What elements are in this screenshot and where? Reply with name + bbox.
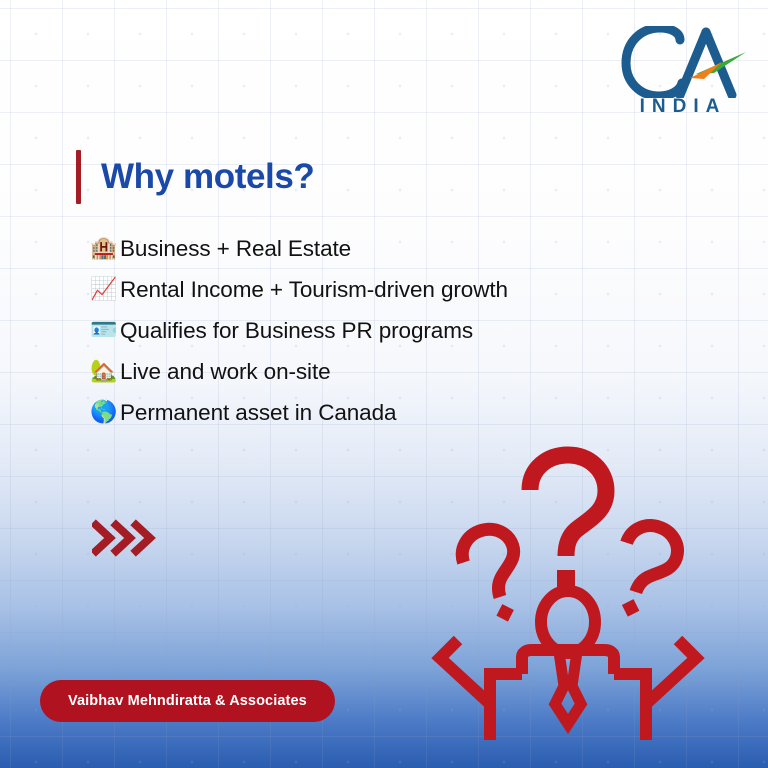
- firm-name-badge: Vaibhav Mehndiratta & Associates: [40, 680, 335, 722]
- list-item-label: Permanent asset in Canada: [120, 400, 396, 426]
- logo-wordmark: INDIA: [610, 96, 750, 118]
- list-item: 🌎 Permanent asset in Canada: [90, 392, 690, 433]
- page-title: Why motels?: [101, 150, 314, 204]
- house-with-garden-emoji: 🏡: [90, 361, 120, 383]
- heading-block: Why motels?: [76, 150, 314, 204]
- question-mark-left-icon: [456, 523, 535, 629]
- benefit-list: 🏨 Business + Real Estate 📈 Rental Income…: [90, 228, 690, 433]
- question-mark-center-icon: [530, 455, 606, 589]
- triple-chevron-right-icon: [92, 517, 160, 559]
- chart-increasing-emoji: 📈: [90, 279, 120, 301]
- list-item-label: Live and work on-site: [120, 359, 331, 385]
- person-head-icon: [541, 591, 595, 653]
- poster-canvas: INDIA Why motels? 🏨 Business + Real Esta…: [0, 0, 768, 768]
- globe-americas-emoji: 🌎: [90, 402, 120, 424]
- person-necktie-icon: [555, 652, 581, 724]
- hotel-emoji: 🏨: [90, 238, 120, 260]
- ca-monogram-icon: [618, 26, 748, 98]
- list-item: 📈 Rental Income + Tourism-driven growth: [90, 269, 690, 310]
- identification-card-emoji: 🪪: [90, 320, 120, 342]
- list-item-label: Rental Income + Tourism-driven growth: [120, 277, 508, 303]
- list-item-label: Business + Real Estate: [120, 236, 351, 262]
- shrugging-person-with-question-marks-illustration: [418, 442, 718, 742]
- heading-accent-bar: [76, 150, 81, 204]
- list-item: 🪪 Qualifies for Business PR programs: [90, 310, 690, 351]
- brand-logo: INDIA: [610, 26, 750, 128]
- list-item: 🏨 Business + Real Estate: [90, 228, 690, 269]
- list-item-label: Qualifies for Business PR programs: [120, 318, 473, 344]
- list-item: 🏡 Live and work on-site: [90, 351, 690, 392]
- question-mark-right-icon: [605, 519, 684, 625]
